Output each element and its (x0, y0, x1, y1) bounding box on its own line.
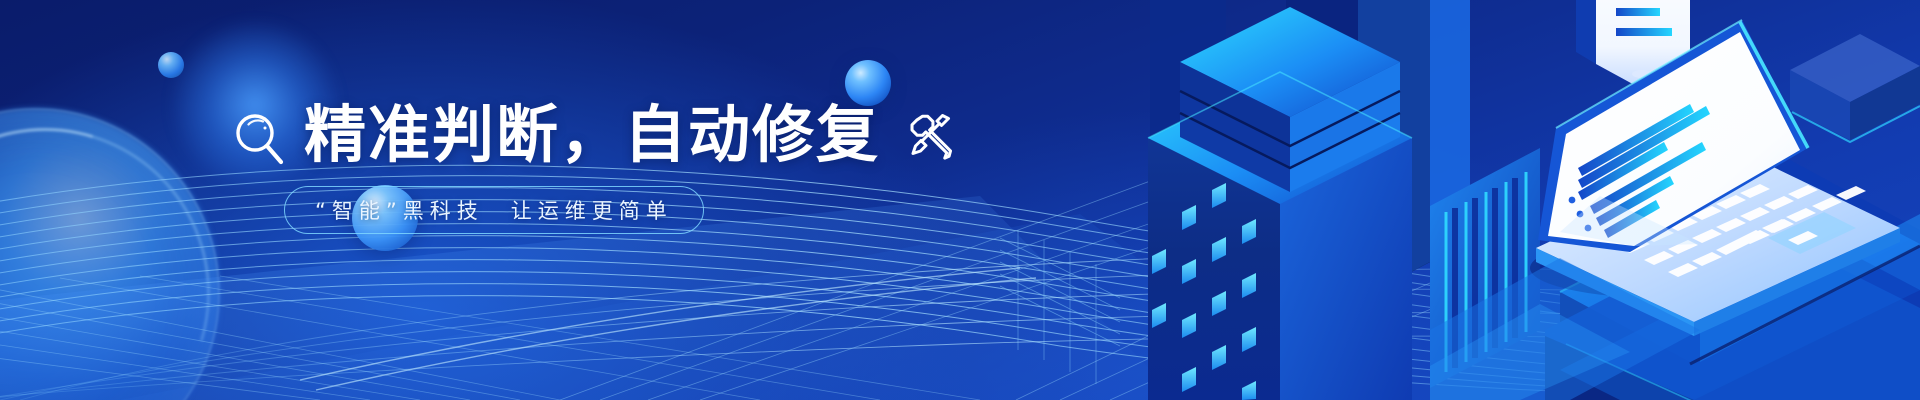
isometric-illustration (1000, 0, 1920, 400)
page-title: 精准判断，自动修复 (304, 104, 880, 166)
headline-group: 精准判断，自动修复 (232, 102, 960, 168)
subtitle-text: “智能”黑科技 让运维更简单 (315, 195, 673, 225)
wrench-screwdriver-icon (904, 109, 960, 165)
small-cube (1790, 34, 1920, 142)
search-icon (232, 108, 286, 168)
subtitle-pill: “智能”黑科技 让运维更简单 (284, 186, 704, 234)
floor-grid (1000, 230, 1120, 384)
office-building (1148, 7, 1412, 400)
promo-banner: 精准判断，自动修复 “智能”黑科技 让运维更简单 (0, 0, 1920, 400)
